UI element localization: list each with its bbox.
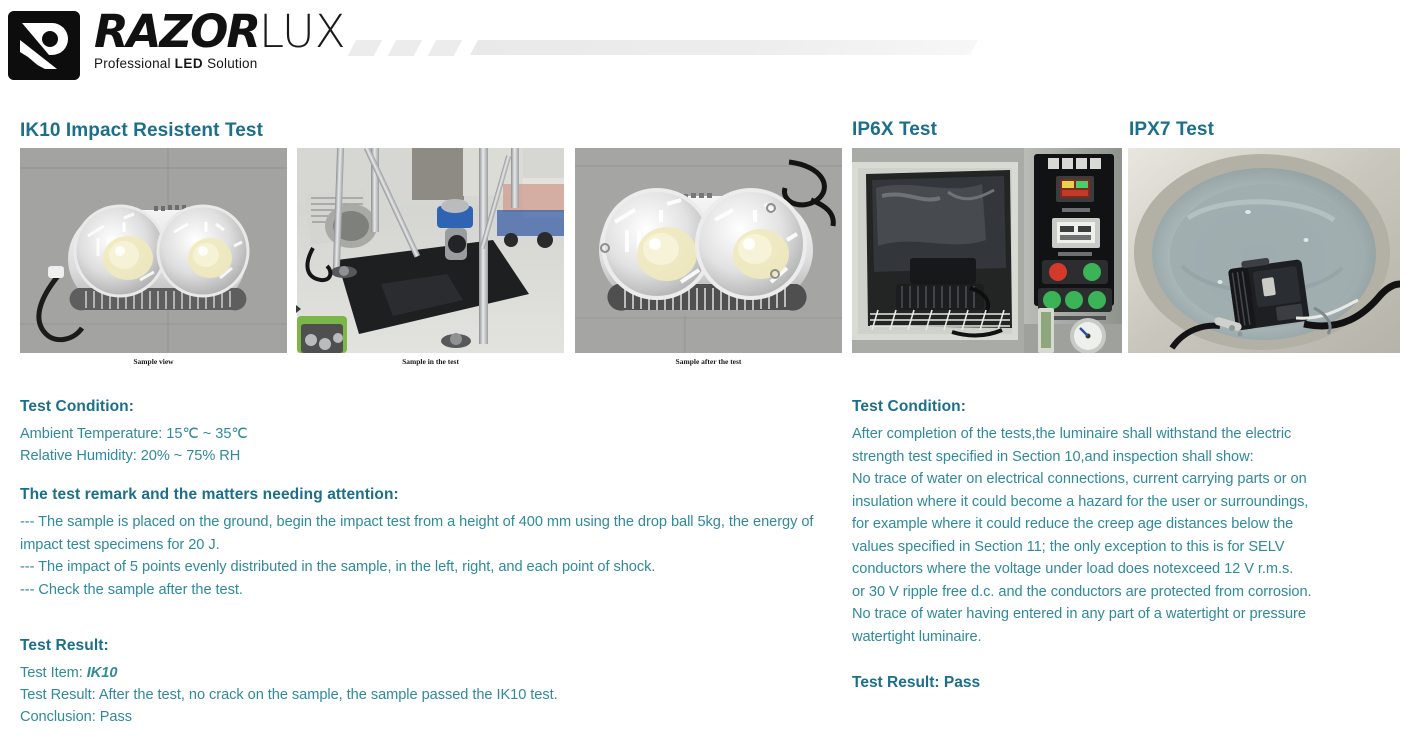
relative-humidity-text: Relative Humidity: 20% ~ 75% RH [20, 445, 820, 467]
remark-line-3: --- Check the sample after the test. [20, 579, 820, 602]
stripe-bar [470, 40, 978, 55]
brand-razor: RAZOR [94, 5, 259, 58]
right-condition-line-10: watertight luminaire. [852, 626, 1404, 649]
tagline-prefix: Professional [94, 56, 175, 71]
left-test-result-block: Test Result: Test Item: IK10 Test Result… [20, 637, 820, 728]
sample-view-photo [20, 148, 287, 353]
right-condition-line-9: No trace of water having entered in any … [852, 603, 1404, 626]
right-test-result-text: Test Result: Pass [852, 674, 1404, 692]
left-test-condition-heading: Test Condition: [20, 398, 820, 416]
test-result-line: Test Result: After the test, no crack on… [20, 684, 820, 706]
section-title-ipx7: IPX7 Test [1129, 119, 1214, 141]
brand-tagline: Professional LED Solution [94, 56, 346, 71]
page-header: RAZORLUX Professional LED Solution [0, 0, 1420, 100]
test-item-line: Test Item: IK10 [20, 662, 820, 684]
brand-name: RAZORLUX [94, 9, 346, 55]
right-condition-line-8: or 30 V ripple free d.c. and the conduct… [852, 581, 1404, 604]
photo-sequence-arrow-icon [296, 305, 301, 313]
brand-lux: LUX [259, 5, 346, 58]
right-condition-line-3: No trace of water on electrical connecti… [852, 468, 1404, 491]
brand-wordmark: RAZORLUX Professional LED Solution [94, 9, 346, 71]
water-immersion-photo [1128, 148, 1400, 353]
photo-caption-1: Sample view [20, 357, 287, 366]
right-condition-line-2: strength test specified in Section 10,an… [852, 446, 1404, 469]
left-test-condition-block: Test Condition: Ambient Temperature: 15℃… [20, 398, 820, 467]
right-condition-line-4: insulation where it could become a hazar… [852, 491, 1404, 514]
right-condition-line-5: for example where it could reduce the cr… [852, 513, 1404, 536]
left-test-result-heading: Test Result: [20, 637, 820, 655]
conclusion-line: Conclusion: Pass [20, 706, 820, 728]
test-item-label: Test Item: [20, 665, 87, 681]
stripe-slash-1 [348, 40, 383, 56]
report-page: RAZORLUX Professional LED Solution IK10 … [0, 0, 1420, 754]
razorlux-r-emblem-icon [8, 11, 80, 80]
right-condition-line-6: values specified in Section 11; the only… [852, 536, 1404, 559]
tagline-led: LED [175, 56, 204, 71]
remark-line-2: --- The impact of 5 points evenly distri… [20, 556, 820, 579]
tagline-suffix: Solution [203, 56, 257, 71]
photo-caption-3: Sample after the test [575, 357, 842, 366]
stripe-slash-3 [428, 40, 463, 56]
dust-chamber-photo [852, 148, 1122, 353]
ambient-temperature-text: Ambient Temperature: 15℃ ~ 35℃ [20, 423, 820, 445]
photo-caption-2: Sample in the test [297, 357, 564, 366]
remark-line-1: --- The sample is placed on the ground, … [20, 511, 820, 556]
stripe-slash-2 [388, 40, 423, 56]
section-title-ik10: IK10 Impact Resistent Test [20, 120, 263, 142]
sample-after-test-photo [575, 148, 842, 353]
test-remark-heading: The test remark and the matters needing … [20, 486, 820, 504]
right-condition-line-1: After completion of the tests,the lumina… [852, 423, 1404, 446]
right-test-condition-heading: Test Condition: [852, 398, 1404, 416]
header-decorative-stripes [352, 36, 972, 62]
test-item-value: IK10 [87, 665, 118, 681]
right-test-result-block: Test Result: Pass [852, 674, 1404, 692]
sample-in-test-photo [297, 148, 564, 353]
right-test-condition-block: Test Condition: After completion of the … [852, 398, 1404, 648]
section-title-ip6x: IP6X Test [852, 119, 937, 141]
test-remark-block: The test remark and the matters needing … [20, 486, 820, 601]
brand-logo: RAZORLUX Professional LED Solution [8, 11, 346, 80]
right-condition-line-7: conductors where the voltage under load … [852, 558, 1404, 581]
